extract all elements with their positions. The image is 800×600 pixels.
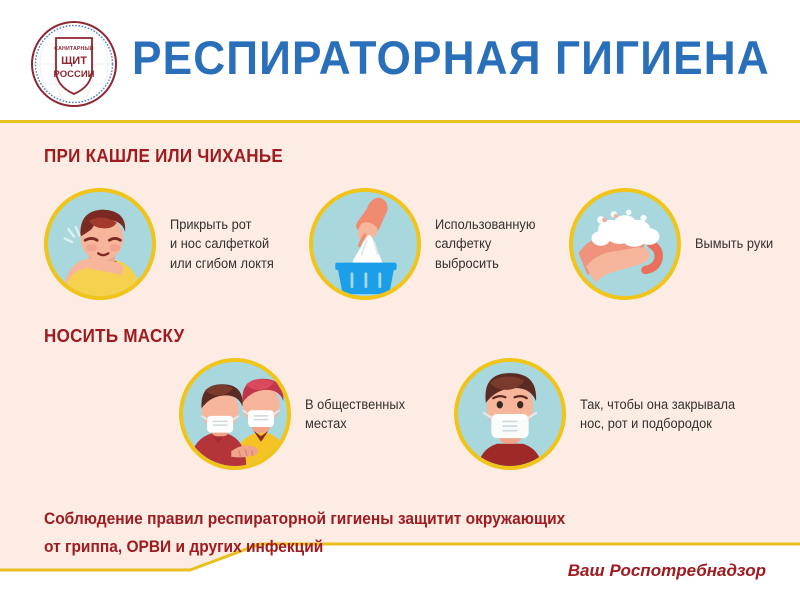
svg-text:РОССИИ: РОССИИ (54, 69, 95, 80)
sanitary-shield-russia-logo: САНИТАРНЫЙ ЩИТ РОССИИ (24, 14, 124, 114)
page-title: РЕСПИРАТОРНАЯ ГИГИЕНА (132, 22, 743, 94)
wash-hands-icon (569, 188, 681, 300)
svg-text:ЩИТ: ЩИТ (61, 55, 87, 67)
step-wash-hands: Вымыть руки (569, 188, 777, 300)
step-dispose-tissue: Использованную салфетку выбросить (309, 188, 541, 300)
step-label: В общественных местах (305, 395, 405, 434)
sneeze-into-elbow-icon (44, 188, 156, 300)
header-divider-line (0, 120, 800, 123)
footer-message: Соблюдение правил респираторной гигиены … (44, 505, 627, 561)
section-heading-cough: ПРИ КАШЛЕ ИЛИ ЧИХАНЬЕ (44, 145, 283, 167)
step-label: Вымыть руки (695, 234, 773, 254)
two-people-masks-icon (179, 358, 291, 470)
section-heading-mask: НОСИТЬ МАСКУ (44, 325, 184, 347)
infographic-poster: САНИТАРНЫЙ ЩИТ РОССИИ РЕСПИРАТОРНАЯ ГИГИ… (0, 0, 800, 600)
step-label: Использованную салфетку выбросить (435, 215, 535, 274)
step-label: Прикрыть рот и нос салфеткой или сгибом … (170, 215, 274, 274)
step-label: Так, чтобы она закрывала нос, рот и подб… (580, 395, 735, 434)
step-cover-mouth: Прикрыть рот и нос салфеткой или сгибом … (44, 188, 279, 300)
footer-signature: Ваш Роспотребнадзор (568, 561, 766, 581)
header-bar: САНИТАРНЫЙ ЩИТ РОССИИ РЕСПИРАТОРНАЯ ГИГИ… (0, 0, 800, 122)
step-mask-coverage: Так, чтобы она закрывала нос, рот и подб… (454, 358, 743, 470)
svg-text:САНИТАРНЫЙ: САНИТАРНЫЙ (54, 44, 94, 52)
tissue-into-bin-icon (309, 188, 421, 300)
person-mask-face-icon (454, 358, 566, 470)
step-public-places: В общественных местах (179, 358, 410, 470)
